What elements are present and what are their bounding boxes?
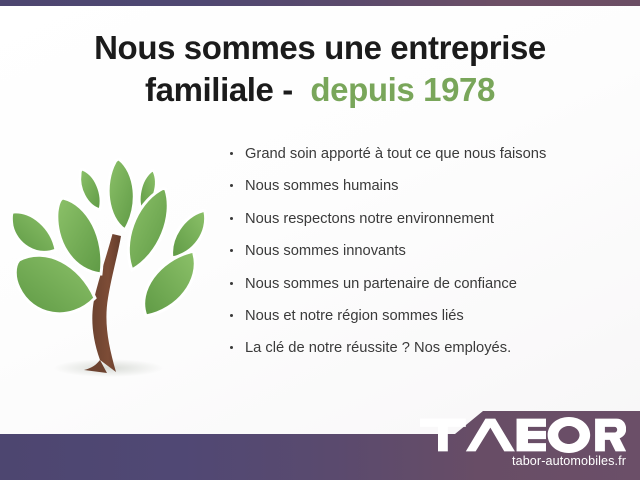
bullet-dot-icon [230,346,233,349]
list-item: Nous sommes innovants [228,243,628,260]
page-title: Nous sommes une entreprise familiale - d… [40,27,600,111]
bullet-dot-icon [230,152,233,155]
list-item-label: La clé de notre réussite ? Nos employés. [245,340,511,356]
list-item-label: Grand soin apporté à tout ce que nous fa… [245,146,546,162]
list-item-label: Nous respectons notre environnement [245,211,494,227]
top-accent-bar [0,0,640,6]
bullet-dot-icon [230,217,233,220]
list-item: Grand soin apporté à tout ce que nous fa… [228,146,628,163]
list-item: Nous sommes humains [228,178,628,195]
list-item-label: Nous sommes innovants [245,243,406,259]
bullet-dot-icon [230,314,233,317]
list-item-label: Nous sommes humains [245,178,398,194]
list-item-label: Nous sommes un partenaire de confiance [245,276,517,292]
leaf-left-upper [11,212,56,252]
headline-line-2-static: familiale - [145,71,310,108]
leaf-right-lower [144,252,196,316]
list-item: Nous et notre région sommes liés [228,308,628,325]
brand-bar-shape [0,411,640,480]
bullet-dot-icon [230,184,233,187]
list-item-label: Nous et notre région sommes liés [245,308,464,324]
tree-illustration [8,146,213,391]
slide-canvas: Nous sommes une entreprise familiale - d… [0,0,640,480]
leaf-top-center [108,159,134,230]
bullet-dot-icon [230,282,233,285]
list-item: Nous respectons notre environnement [228,211,628,228]
list-item: Nous sommes un partenaire de confiance [228,276,628,293]
bullet-dot-icon [230,249,233,252]
brand-footer-bar [0,400,640,480]
headline-line-2: familiale - depuis 1978 [40,69,600,111]
values-list: Grand soin apporté à tout ce que nous fa… [228,146,628,357]
headline-since-accent: depuis 1978 [310,71,495,108]
headline-line-1: Nous sommes une entreprise [94,29,546,66]
leaf-top-small-left [80,169,101,210]
list-item: La clé de notre réussite ? Nos employés. [228,340,628,357]
